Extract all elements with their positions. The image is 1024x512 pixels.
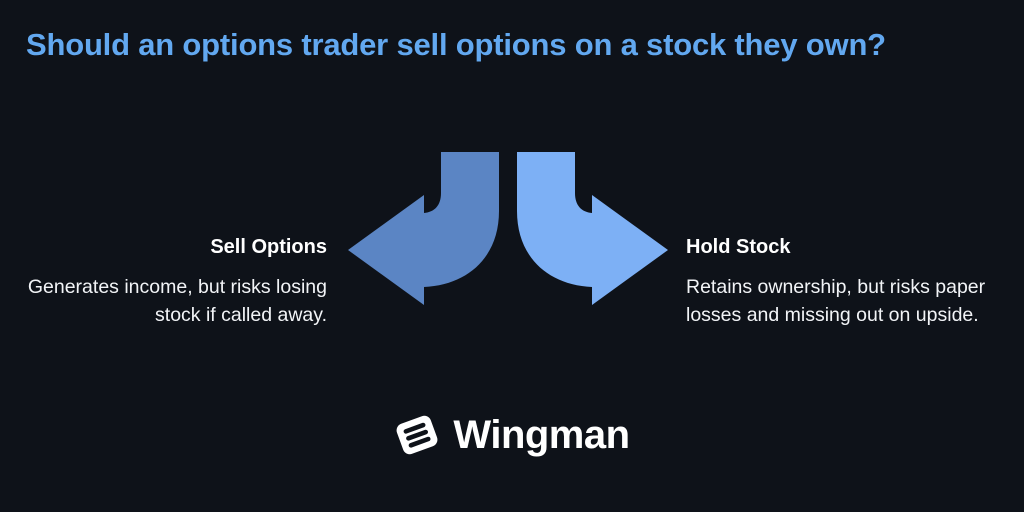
- option-description-hold-stock: Retains ownership, but risks paper losse…: [686, 274, 1001, 329]
- option-heading-hold-stock: Hold Stock: [686, 234, 1001, 260]
- page-title: Should an options trader sell options on…: [26, 26, 1006, 65]
- infographic-canvas: Should an options trader sell options on…: [0, 0, 1024, 512]
- option-sell-options: Sell Options Generates income, but risks…: [15, 234, 327, 329]
- split-arrows-graphic: [340, 145, 676, 315]
- option-description-sell-options: Generates income, but risks losing stock…: [15, 274, 327, 329]
- right-arrow-icon: [517, 152, 668, 305]
- option-hold-stock: Hold Stock Retains ownership, but risks …: [686, 234, 1001, 329]
- left-arrow-icon: [348, 152, 499, 305]
- option-heading-sell-options: Sell Options: [15, 234, 327, 260]
- brand-lockup: Wingman: [0, 412, 1024, 458]
- wingman-stacked-bars-icon: [394, 412, 440, 458]
- brand-name: Wingman: [453, 415, 629, 455]
